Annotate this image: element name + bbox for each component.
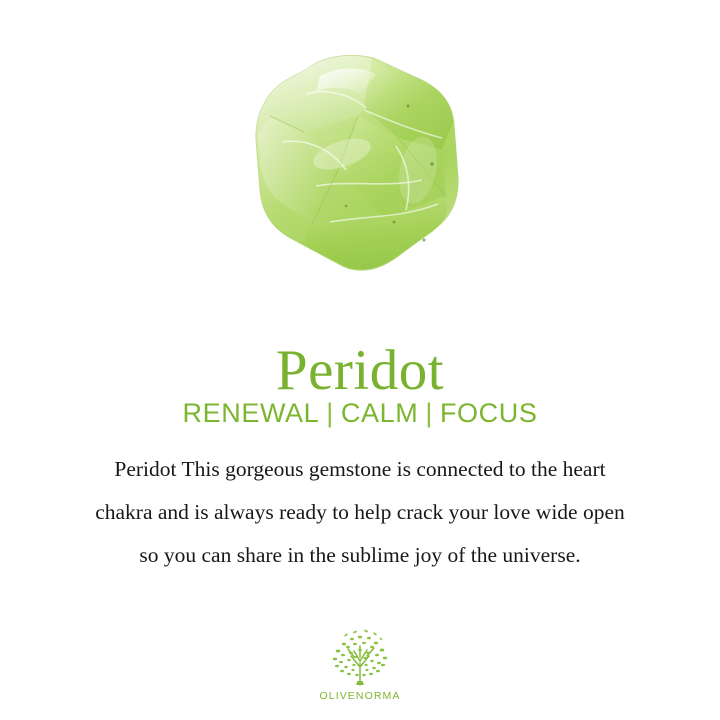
brand-wordmark: OLIVENORMA — [319, 690, 400, 702]
keyword-separator: | — [319, 398, 341, 428]
gemstone-image-container — [0, 40, 720, 284]
olive-tree-logo-icon — [324, 627, 396, 689]
tree-branches — [348, 646, 374, 685]
product-info-card: Peridot RENEWAL|CALM|FOCUS Peridot This … — [0, 0, 720, 720]
tree-trunk-base — [356, 681, 364, 685]
description-line: chakra and is always ready to help crack… — [20, 491, 700, 534]
brand-logo: OLIVENORMA — [0, 627, 720, 702]
keyword-focus: FOCUS — [440, 398, 538, 428]
keyword-separator: | — [418, 398, 440, 428]
keyword-renewal: RENEWAL — [183, 398, 320, 428]
tree-floating-leaves — [344, 629, 383, 641]
description-line: so you can share in the sublime joy of t… — [20, 534, 700, 577]
description-line: Peridot This gorgeous gemstone is connec… — [20, 448, 700, 491]
page-title: Peridot — [0, 338, 720, 404]
description-text: Peridot This gorgeous gemstone is connec… — [20, 448, 700, 577]
keyword-calm: CALM — [341, 398, 418, 428]
keyword-list: RENEWAL|CALM|FOCUS — [0, 396, 720, 430]
raw-peridot-crystal-icon — [246, 46, 474, 278]
